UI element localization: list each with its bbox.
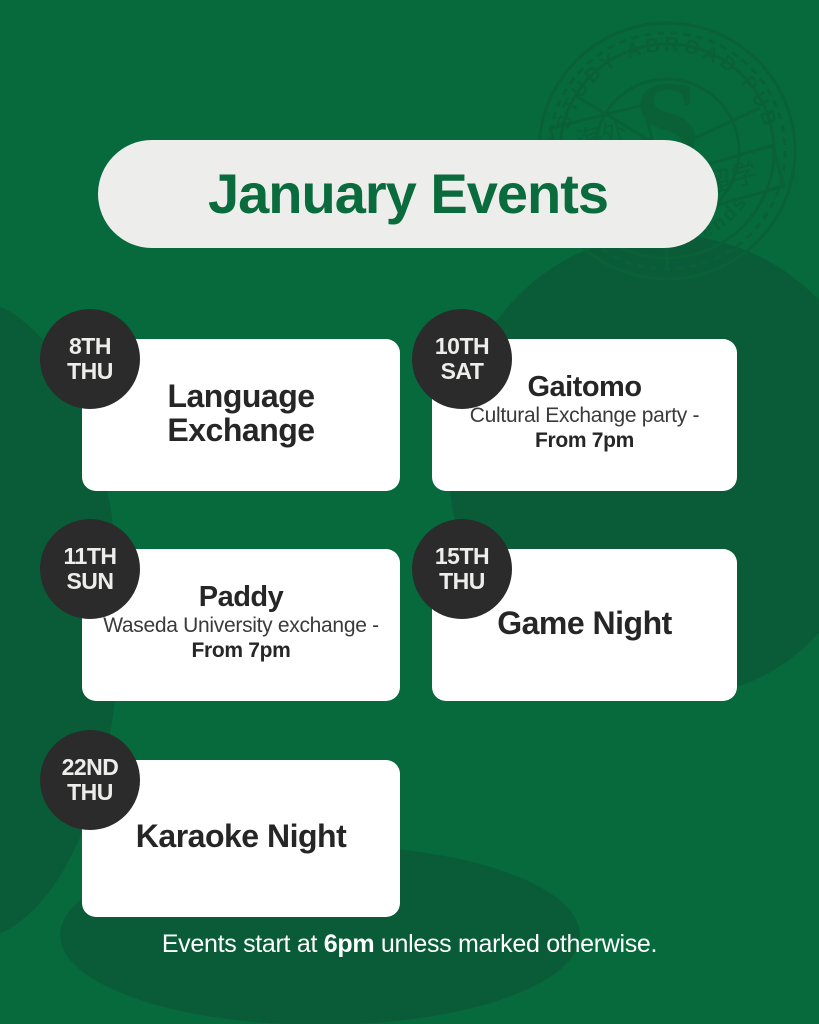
event-subtitle-plain: Waseda University exchange -	[103, 614, 379, 637]
event-title: Gaitomo	[527, 372, 641, 403]
event-date-day: 11TH	[64, 544, 117, 569]
event-subtitle: Waseda University exchange - From 7pm	[98, 614, 384, 664]
poster-canvas: 海外 留学 S STUDY ABROAD PUB & Great Friends…	[0, 0, 819, 1024]
event-date-weekday: THU	[439, 569, 485, 594]
event-date-weekday: SAT	[441, 359, 484, 384]
event-subtitle-plain: Cultural Exchange party -	[470, 404, 699, 427]
event-date-day: 15TH	[435, 544, 489, 569]
page-title-pill: January Events	[98, 140, 718, 248]
event-date-day: 8TH	[69, 334, 111, 359]
event-title: Language Exchange	[98, 379, 384, 447]
event-date-day: 22ND	[62, 755, 119, 780]
event-subtitle-bold: From 7pm	[191, 639, 290, 662]
event-date-weekday: THU	[67, 780, 113, 805]
stamp-top-arc-text: STUDY ABROAD PUB	[553, 34, 782, 132]
event-title: Karaoke Night	[136, 819, 346, 853]
footer-note: Events start at 6pm unless marked otherw…	[0, 930, 819, 959]
event-date-day: 10TH	[435, 334, 489, 359]
footer-prefix: Events start at	[162, 930, 324, 958]
event-title: Paddy	[199, 582, 284, 613]
event-date-badge[interactable]: 22ND THU	[40, 730, 140, 830]
page-title: January Events	[208, 166, 608, 222]
event-subtitle-bold: From 7pm	[535, 429, 634, 452]
footer-highlight: 6pm	[324, 930, 375, 958]
event-date-badge[interactable]: 15TH THU	[412, 519, 512, 619]
event-subtitle: Cultural Exchange party - From 7pm	[448, 404, 721, 454]
event-date-badge[interactable]: 10TH SAT	[412, 309, 512, 409]
event-date-badge[interactable]: 8TH THU	[40, 309, 140, 409]
event-date-badge[interactable]: 11TH SUN	[40, 519, 140, 619]
event-date-weekday: SUN	[66, 569, 113, 594]
event-date-weekday: THU	[67, 359, 113, 384]
event-title: Game Night	[497, 606, 672, 640]
footer-suffix: unless marked otherwise.	[374, 930, 657, 958]
